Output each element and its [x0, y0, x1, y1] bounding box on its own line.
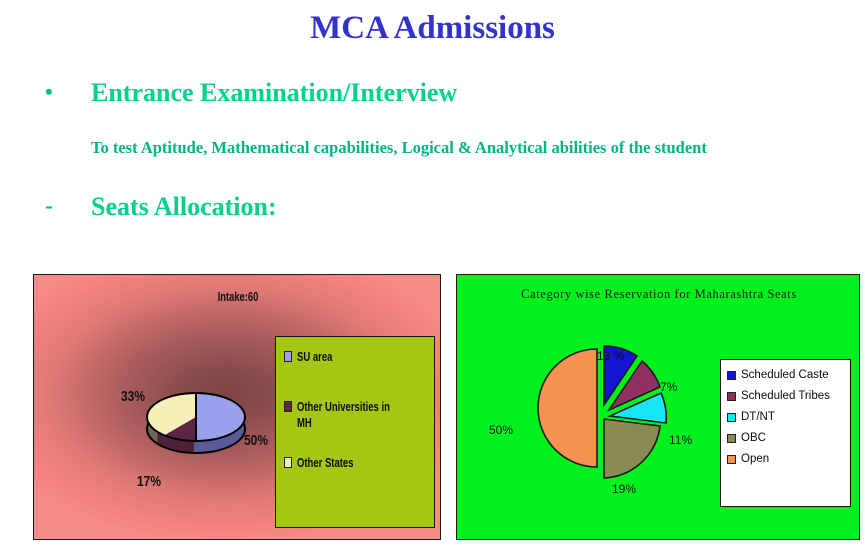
legend-swatch-icon — [727, 455, 736, 464]
legend-swatch-icon — [727, 392, 736, 401]
pie-slice-label-su-area: 50% — [244, 432, 268, 449]
bullet-entrance-exam: • Entrance Examination/Interview — [45, 78, 835, 108]
chart-panel-category: Category wise Reservation for Maharashtr… — [456, 274, 860, 540]
legend-item-label: DT/NT — [741, 410, 775, 424]
legend-item: SU area — [284, 349, 434, 365]
legend-item: Scheduled Caste — [727, 368, 850, 382]
pie-slice-label-other-universities: 17% — [137, 473, 161, 490]
chart-panel-intake: Intake:60 33% 50% 17% SU area Other Univ… — [33, 274, 441, 540]
legend-item: DT/NT — [727, 410, 850, 424]
bullet-seats-label: Seats Allocation: — [91, 191, 277, 223]
legend-item: Other States — [284, 455, 434, 471]
bullet-seats-allocation: - Seats Allocation: — [45, 191, 835, 223]
pie-slice-label-scheduled-tribes: 7% — [660, 380, 677, 394]
legend-swatch-icon — [727, 371, 736, 380]
legend-category: Scheduled Caste Scheduled Tribes DT/NT O… — [720, 359, 851, 507]
chart-title-category: Category wise Reservation for Maharashtr… — [457, 287, 861, 302]
legend-swatch-icon — [727, 413, 736, 422]
dash-marker-icon: - — [45, 191, 91, 221]
legend-item-label: SU area — [297, 349, 401, 365]
chart-title-intake: Intake:60 — [91, 289, 385, 304]
pie-3d-top — [146, 392, 246, 442]
pie-slice-label-scheduled-caste: 13 % — [597, 349, 624, 363]
legend-swatch-icon — [284, 351, 292, 362]
legend-intake: SU area Other Universities in MH Other S… — [275, 336, 435, 528]
legend-item: Scheduled Tribes — [727, 389, 850, 403]
legend-item-label: Scheduled Caste — [741, 368, 829, 382]
page-title: MCA Admissions — [0, 10, 865, 46]
pie-slice-label-dt-nt: 11% — [669, 433, 692, 447]
legend-item: OBC — [727, 431, 850, 445]
legend-item-label: Other States — [297, 455, 401, 471]
legend-item: Open — [727, 452, 850, 466]
legend-swatch-icon — [284, 401, 292, 412]
legend-item-label: Scheduled Tribes — [741, 389, 830, 403]
pie-slice-label-other-states: 33% — [121, 388, 145, 405]
bullet-entrance-label: Entrance Examination/Interview — [91, 78, 457, 108]
legend-swatch-icon — [284, 457, 292, 468]
pie-slice-label-obc: 19% — [612, 482, 636, 496]
legend-swatch-icon — [727, 434, 736, 443]
legend-item-label: Open — [741, 452, 769, 466]
bullet-marker-icon: • — [45, 78, 91, 106]
legend-item: Other Universities in MH — [284, 399, 434, 431]
pie-slice-obc — [604, 419, 660, 478]
legend-item-label: Other Universities in MH — [297, 399, 401, 431]
sub-text-description: To test Aptitude, Mathematical capabilit… — [91, 137, 791, 158]
legend-item-label: OBC — [741, 431, 766, 445]
pie-slice-label-open: 50% — [489, 423, 513, 437]
pie-slice-open — [538, 349, 597, 467]
pie-chart-intake — [144, 388, 250, 462]
